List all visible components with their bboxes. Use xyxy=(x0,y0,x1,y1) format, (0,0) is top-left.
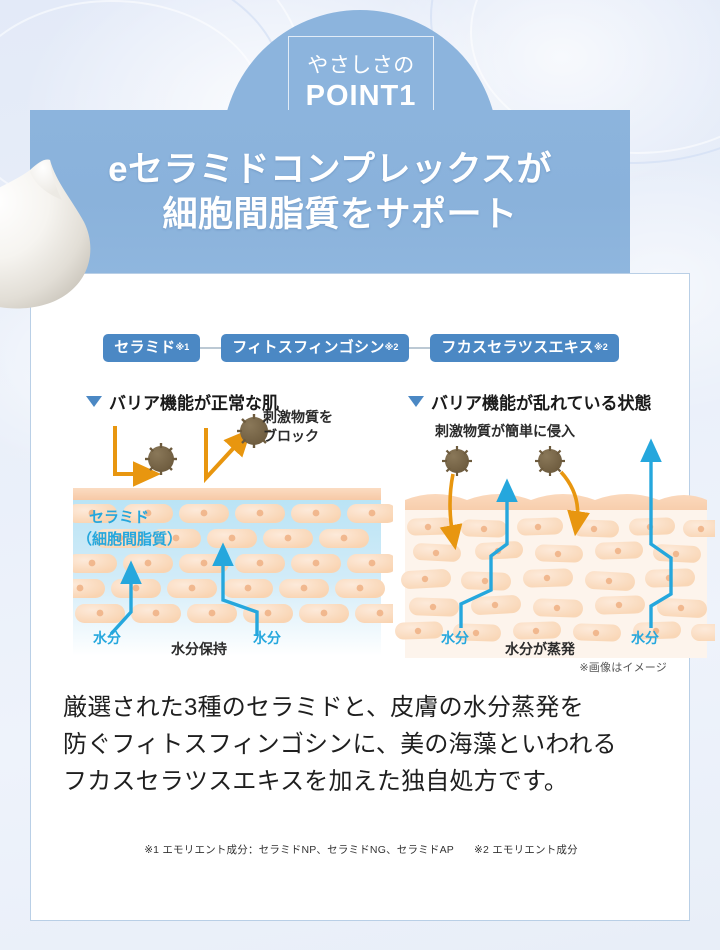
infographic-page: やさしさの POINT1 eセラミドコンプレックスが 細胞間脂質をサポート xyxy=(0,0,720,950)
penetrate-label: 刺激物質が簡単に侵入 xyxy=(435,422,575,441)
image-disclaimer-caption: ※画像はイメージ xyxy=(579,659,667,675)
footnote-1: ※1 エモリエント成分：セラミドNP、セラミドNG、セラミドAP xyxy=(144,844,454,856)
triangle-down-icon xyxy=(408,396,424,407)
panel-heading-healthy: バリア機能が正常な肌 xyxy=(86,389,279,414)
footnotes: ※1 エモリエント成分：セラミドNP、セラミドNG、セラミドAP ※2 エモリエ… xyxy=(31,842,691,857)
tag-note: ※2 xyxy=(594,342,608,352)
ingredient-tag-ceramide: セラミド※1 xyxy=(103,334,200,362)
water-retention-label: 水分保持 xyxy=(171,640,227,659)
cream-dollop-image xyxy=(0,148,102,318)
triangle-down-icon xyxy=(86,396,102,407)
body-line-3: フカスセラツスエキスを加えた独自処方です。 xyxy=(63,763,663,800)
block-label-line2: ブロック xyxy=(263,428,319,444)
panel-heading-damaged: バリア機能が乱れている状態 xyxy=(408,389,652,414)
tag-label: セラミド xyxy=(114,339,175,356)
tag-connector-2 xyxy=(409,347,430,349)
panel-heading-label: バリア機能が正常な肌 xyxy=(109,389,279,414)
ingredient-tag-phytosphingosine: フィトスフィンゴシン※2 xyxy=(221,334,409,362)
headline-line-2: 細胞間脂質をサポート xyxy=(142,194,517,235)
water-evaporation-label: 水分が蒸発 xyxy=(505,640,575,659)
panel-heading-label: バリア機能が乱れている状態 xyxy=(431,389,652,414)
body-line-1: 厳選された3種のセラミドと、皮膚の水分蒸発を xyxy=(63,689,663,726)
water-label-left: 水分 xyxy=(441,628,469,648)
tag-note: ※2 xyxy=(385,342,399,352)
tag-label: フィトスフィンゴシン xyxy=(232,339,384,356)
diagram-damaged-skin: 刺激物質が簡単に侵入 水分 水分 水分が蒸発 xyxy=(395,414,715,664)
ingredient-tag-fucus: フカスセラツスエキス※2 xyxy=(430,334,618,362)
badge-subtitle: やさしさの xyxy=(307,49,415,79)
tag-note: ※1 xyxy=(175,342,189,352)
damaged-skin-illustration xyxy=(395,414,715,664)
headline-line-1: eセラミドコンプレックスが xyxy=(108,149,552,190)
ceramide-label-line2: （細胞間脂質） xyxy=(77,528,182,549)
water-label-right: 水分 xyxy=(253,628,281,648)
block-irritant-label: 刺激物質を ブロック xyxy=(263,408,333,446)
ingredient-tag-row: セラミド※1 フィトスフィンゴシン※2 フカスセラツスエキス※2 xyxy=(61,334,661,362)
ceramide-label-line1: セラミド xyxy=(89,506,149,527)
content-card: セラミド※1 フィトスフィンゴシン※2 フカスセラツスエキス※2 バリア機能が正… xyxy=(30,273,690,921)
footnote-2: ※2 エモリエント成分 xyxy=(474,844,578,856)
block-label-line1: 刺激物質を xyxy=(263,409,333,425)
page-title: eセラミドコンプレックスが 細胞間脂質をサポート xyxy=(30,112,630,272)
water-label-left: 水分 xyxy=(93,628,121,648)
diagram-healthy-skin: 刺激物質を ブロック セラミド （細胞間脂質） 水分 水分 水分保持 xyxy=(73,414,393,664)
body-copy: 厳選された3種のセラミドと、皮膚の水分蒸発を 防ぐフィトスフィンゴシンに、美の海… xyxy=(63,689,663,801)
tag-label: フカスセラツスエキス xyxy=(441,339,594,356)
water-label-right: 水分 xyxy=(631,628,659,648)
body-line-2: 防ぐフィトスフィンゴシンに、美の海藻といわれる xyxy=(63,726,663,763)
badge-title: POINT1 xyxy=(306,80,417,113)
tag-connector-1 xyxy=(200,347,221,349)
